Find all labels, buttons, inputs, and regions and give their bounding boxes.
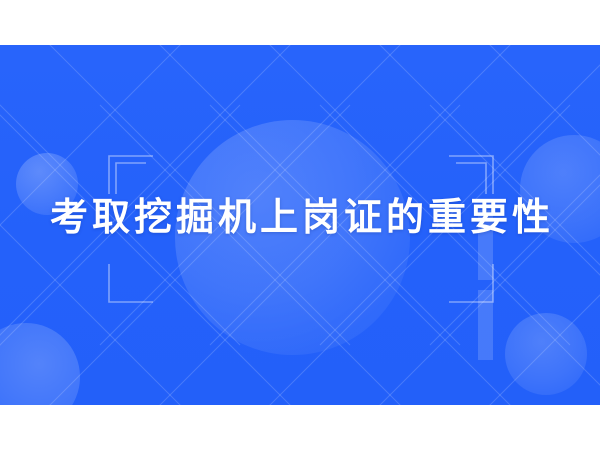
soft-circle-right-bottom-icon xyxy=(505,313,587,395)
vertical-accent-bar-bottom xyxy=(478,290,493,360)
slide-title: 考取挖掘机上岗证的重要性 xyxy=(0,193,600,241)
slide-canvas: 考取挖掘机上岗证的重要性 xyxy=(0,0,600,450)
